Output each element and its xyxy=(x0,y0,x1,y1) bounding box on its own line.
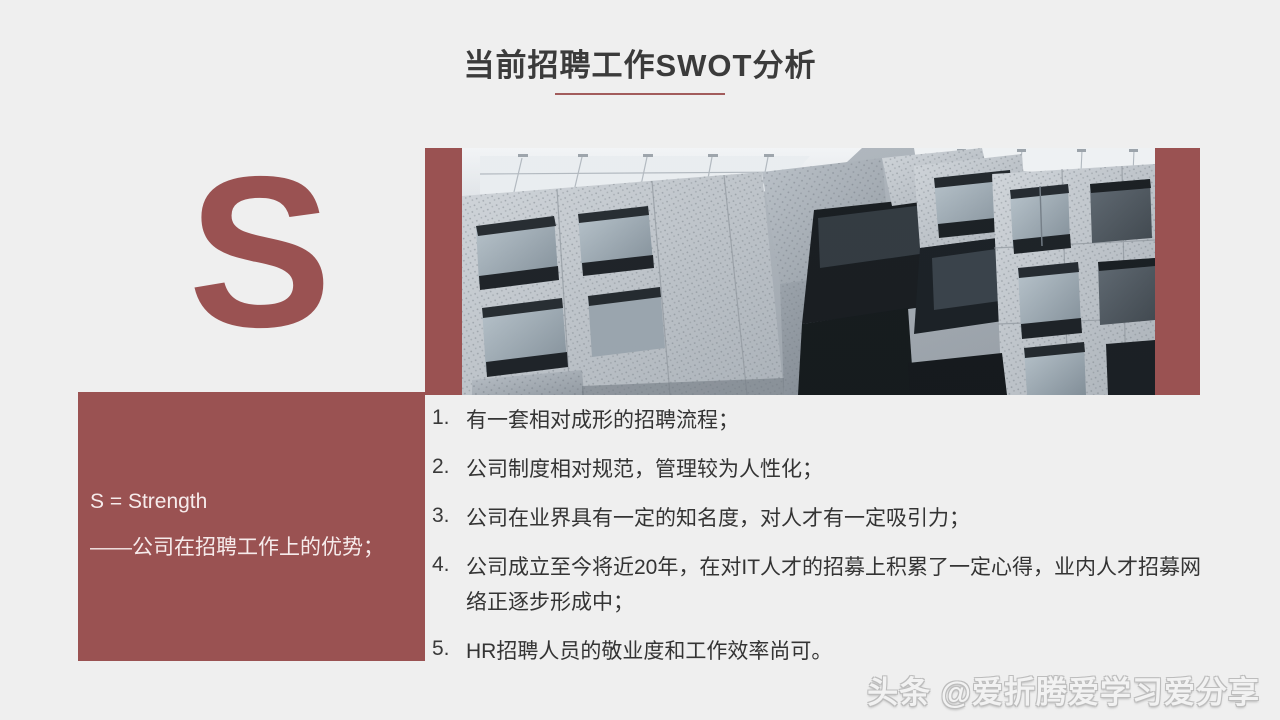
list-item-text: 有一套相对成形的招聘流程； xyxy=(466,403,1212,438)
list-item-number: 5. xyxy=(432,634,466,664)
photo-accent-bar-left xyxy=(425,148,462,395)
list-item-number: 2. xyxy=(432,452,466,482)
strength-caption-box: S = Strength ——公司在招聘工作上的优势； xyxy=(78,392,425,661)
strength-bullet-list: 1. 有一套相对成形的招聘流程； 2. 公司制度相对规范，管理较为人性化； 3.… xyxy=(432,403,1212,683)
list-item: 1. 有一套相对成形的招聘流程； xyxy=(432,403,1212,438)
list-item: 2. 公司制度相对规范，管理较为人性化； xyxy=(432,452,1212,487)
photo-band xyxy=(425,148,1200,395)
list-item-number: 3. xyxy=(432,501,466,531)
slide-root: 当前招聘工作SWOT分析 S xyxy=(0,0,1280,720)
list-item: 3. 公司在业界具有一定的知名度，对人才有一定吸引力； xyxy=(432,501,1212,536)
title-underline xyxy=(555,93,725,95)
photo-accent-bar-right xyxy=(1155,148,1200,395)
list-item-text: 公司制度相对规范，管理较为人性化； xyxy=(466,452,1212,487)
list-item-number: 4. xyxy=(432,550,466,580)
building-photo-illustration xyxy=(462,148,1155,395)
list-item-text: 公司成立至今将近20年，在对IT人才的招募上积累了一定心得，业内人才招募网络正逐… xyxy=(466,550,1212,620)
watermark: 头条 @爱折腾爱学习爱分享 xyxy=(867,667,1260,712)
strength-subtitle: ——公司在招聘工作上的优势； xyxy=(90,533,420,563)
list-item-number: 1. xyxy=(432,403,466,433)
list-item: 4. 公司成立至今将近20年，在对IT人才的招募上积累了一定心得，业内人才招募网… xyxy=(432,550,1212,620)
strength-caption-inner: S = Strength ——公司在招聘工作上的优势； xyxy=(90,487,420,563)
strength-label: S = Strength xyxy=(90,487,420,517)
list-item-text: 公司在业界具有一定的知名度，对人才有一定吸引力； xyxy=(466,501,1212,536)
building-photo xyxy=(462,148,1155,395)
swot-letter: S xyxy=(140,132,380,372)
list-item: 5. HR招聘人员的敬业度和工作效率尚可。 xyxy=(432,634,1212,669)
page-title: 当前招聘工作SWOT分析 xyxy=(0,40,1280,85)
list-item-text: HR招聘人员的敬业度和工作效率尚可。 xyxy=(466,634,1212,669)
